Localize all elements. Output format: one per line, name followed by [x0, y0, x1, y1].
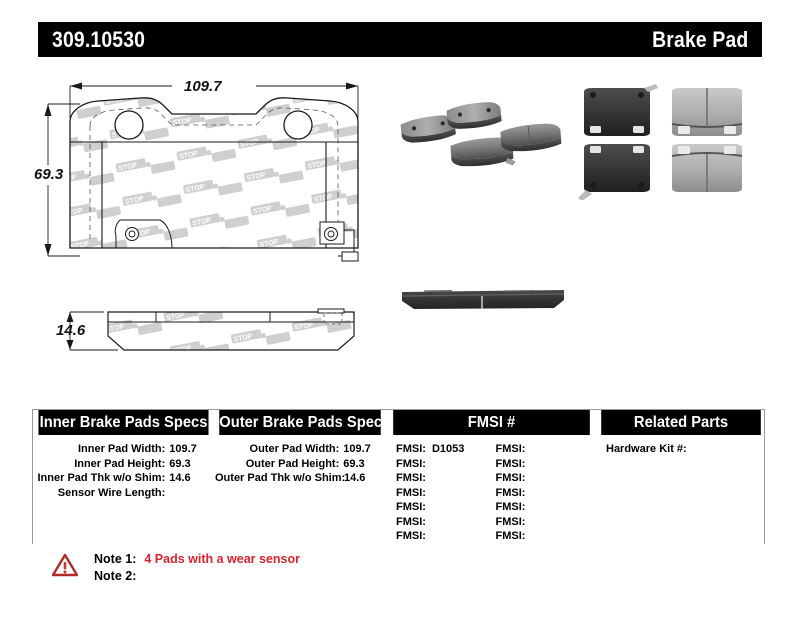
fmsi-label: FMSI: — [496, 487, 526, 499]
spec-row: Inner Pad Width: 109.7 — [34, 442, 213, 457]
pad-edge-photo — [394, 278, 574, 338]
pad-side-view-drawing — [32, 298, 392, 378]
related-parts-body: Hardware Kit #: — [597, 435, 765, 457]
fmsi-label: FMSI: — [496, 472, 526, 484]
note-value: 4 Pads with a wear sensor — [144, 551, 300, 568]
fmsi-row: FMSI: — [496, 471, 596, 486]
spec-row: Inner Pad Height: 69.3 — [34, 457, 213, 472]
fmsi-label: FMSI: — [496, 443, 526, 455]
spec-value: 109.7 — [343, 442, 385, 457]
column-header-fmsi: FMSI # — [393, 410, 590, 435]
note-label: Note 2: — [94, 568, 136, 585]
fmsi-value — [426, 487, 432, 499]
fmsi-value — [426, 458, 432, 470]
warning-triangle-icon — [52, 553, 78, 577]
part-number: 309.10530 — [52, 27, 145, 53]
pads-angled-group-photo — [392, 88, 572, 183]
fmsi-value — [525, 443, 531, 455]
thickness-dimension-label: 14.6 — [56, 322, 85, 339]
spec-row: Sensor Wire Length: — [34, 486, 213, 501]
fmsi-row: FMSI: — [496, 442, 596, 457]
column-header-inner-specs: Inner Brake Pads Specs — [38, 410, 208, 435]
fmsi-row: FMSI: — [496, 486, 596, 501]
column-outer-specs: Outer Brake Pads Specs Outer Pad Width: … — [215, 410, 385, 544]
fmsi-value — [525, 487, 531, 499]
column-related-parts: Related Parts Hardware Kit #: — [597, 410, 765, 544]
fmsi-row: FMSI: — [396, 471, 496, 486]
column-header-outer-specs: Outer Brake Pads Specs — [219, 410, 381, 435]
fmsi-value — [525, 530, 531, 542]
fmsi-label: FMSI: — [496, 530, 526, 542]
fmsi-row: FMSI: — [396, 515, 496, 530]
fmsi-value — [426, 472, 432, 484]
width-dimension-label: 109.7 — [184, 78, 222, 95]
spec-label: Outer Pad Height: — [215, 457, 343, 472]
spec-row: Outer Pad Width: 109.7 — [215, 442, 385, 457]
spec-label: Sensor Wire Length: — [34, 486, 169, 501]
fmsi-row: FMSI: — [396, 486, 496, 501]
fmsi-row: FMSI: — [496, 457, 596, 472]
fmsi-label: FMSI: — [496, 501, 526, 513]
spec-label: Outer Pad Thk w/o Shim: — [215, 471, 344, 486]
note-row: Note 2: — [94, 568, 552, 585]
fmsi-label: FMSI: — [396, 530, 426, 542]
spec-label: Outer Pad Width: — [215, 442, 343, 457]
spec-label: Inner Pad Height: — [34, 457, 169, 472]
note-row: Note 1: 4 Pads with a wear sensor — [94, 551, 552, 568]
spec-value: 109.7 — [169, 442, 213, 457]
related-parts-row: Hardware Kit #: — [597, 442, 765, 457]
fmsi-row: FMSI: — [496, 529, 596, 544]
fmsi-row: FMSI: — [396, 529, 496, 544]
fmsi-row: FMSI: — [496, 500, 596, 515]
column-fmsi: FMSI # FMSI:D1053 FMSI: FMSI: FMSI: FMSI… — [388, 410, 595, 544]
fmsi-label: FMSI: — [396, 501, 426, 513]
fmsi-label: FMSI: — [496, 516, 526, 528]
fmsi-value — [525, 516, 531, 528]
column-header-related-parts: Related Parts — [601, 410, 761, 435]
fmsi-label: FMSI: — [496, 458, 526, 470]
inner-specs-body: Inner Pad Width: 109.7 Inner Pad Height:… — [34, 435, 213, 500]
fmsi-value: D1053 — [426, 443, 464, 455]
fmsi-value — [525, 458, 531, 470]
fmsi-label: FMSI: — [396, 472, 426, 484]
outer-specs-body: Outer Pad Width: 109.7 Outer Pad Height:… — [215, 435, 385, 486]
spec-value — [169, 486, 213, 501]
height-dimension-label: 69.3 — [34, 166, 63, 183]
fmsi-value — [426, 516, 432, 528]
fmsi-body: FMSI:D1053 FMSI: FMSI: FMSI: FMSI: FMSI:… — [388, 435, 595, 544]
fmsi-value — [525, 472, 531, 484]
fmsi-value — [426, 501, 432, 513]
fmsi-label: FMSI: — [396, 516, 426, 528]
fmsi-row: FMSI: — [396, 457, 496, 472]
pads-grid-photo — [570, 82, 760, 200]
column-inner-specs: Inner Brake Pads Specs Inner Pad Width: … — [34, 410, 213, 544]
fmsi-value — [525, 501, 531, 513]
fmsi-row: FMSI:D1053 — [396, 442, 496, 457]
product-type-title: Brake Pad — [652, 27, 748, 53]
fmsi-row: FMSI: — [396, 500, 496, 515]
spec-value: 14.6 — [169, 471, 213, 486]
spec-row: Outer Pad Height: 69.3 — [215, 457, 385, 472]
spec-value: 14.6 — [344, 471, 385, 486]
notes-section: Note 1: 4 Pads with a wear sensor Note 2… — [52, 551, 552, 585]
fmsi-value — [426, 530, 432, 542]
spec-row: Outer Pad Thk w/o Shim: 14.6 — [215, 471, 385, 486]
fmsi-label: FMSI: — [396, 458, 426, 470]
fmsi-row: FMSI: — [496, 515, 596, 530]
header-bar: 309.10530 Brake Pad — [38, 22, 762, 57]
fmsi-label: FMSI: — [396, 487, 426, 499]
spec-label: Inner Pad Width: — [34, 442, 169, 457]
spec-row: Inner Pad Thk w/o Shim: 14.6 — [34, 471, 213, 486]
fmsi-column-right: FMSI: FMSI: FMSI: FMSI: FMSI: FMSI: FMSI… — [496, 442, 596, 544]
spec-value: 69.3 — [169, 457, 213, 472]
fmsi-label: FMSI: — [396, 443, 426, 455]
related-parts-label: Hardware Kit #: — [606, 443, 687, 455]
spec-label: Inner Pad Thk w/o Shim: — [34, 471, 169, 486]
specs-table: Inner Brake Pads Specs Inner Pad Width: … — [32, 409, 765, 544]
pad-front-view-drawing: STOP TECH — [32, 70, 392, 300]
technical-drawing-area: STOP TECH — [32, 70, 762, 390]
note-label: Note 1: — [94, 551, 136, 568]
fmsi-column-left: FMSI:D1053 FMSI: FMSI: FMSI: FMSI: FMSI:… — [396, 442, 496, 544]
spec-value: 69.3 — [343, 457, 385, 472]
note-lines: Note 1: 4 Pads with a wear sensor Note 2… — [94, 551, 552, 585]
